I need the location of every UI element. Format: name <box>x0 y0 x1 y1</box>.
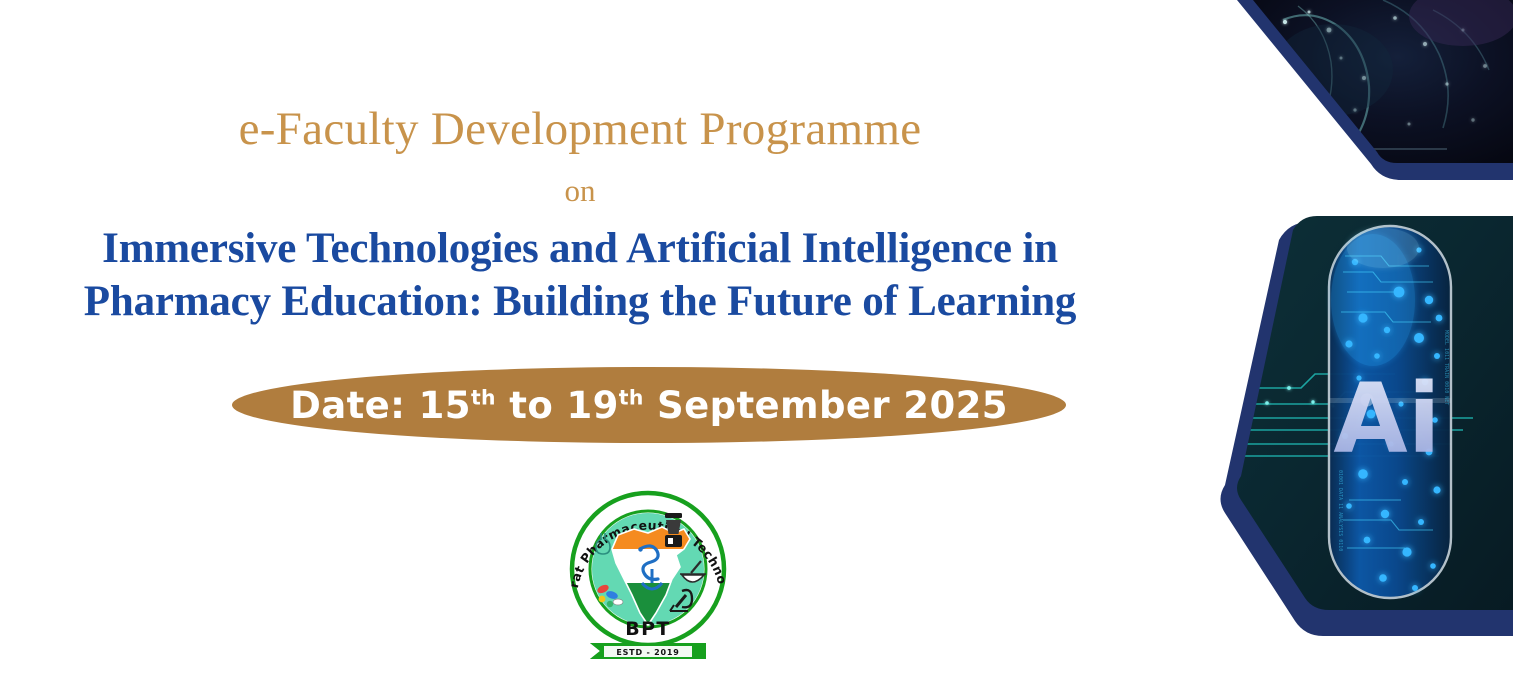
neural-network-image <box>1243 0 1513 174</box>
date-label-prefix: Date: <box>290 384 419 427</box>
event-banner: Ai 01001 DATA 11 ANALYSIS 0110 MODEL 101… <box>0 0 1513 685</box>
capsule-shape: Ai 01001 DATA 11 ANALYSIS 0110 MODEL 101… <box>1329 226 1451 598</box>
date-day-end: 19 <box>566 384 618 427</box>
date-badge: Date: 15th to 19th September 2025 <box>232 367 1066 443</box>
date-month-year: September 2025 <box>644 384 1008 427</box>
date-separator: to <box>496 384 566 427</box>
ai-capsule-label: Ai <box>1333 363 1440 475</box>
date-day-start-suffix: th <box>471 385 496 409</box>
institute-logo: Bharat Pharmaceutical Technology <box>556 483 741 663</box>
institute-logo-svg: Bharat Pharmaceutical Technology <box>556 483 741 663</box>
logo-ribbon-text: ESTD - 2019 <box>616 648 679 657</box>
date-day-end-suffix: th <box>619 385 644 409</box>
right-artwork-svg: Ai 01001 DATA 11 ANALYSIS 0110 MODEL 101… <box>1133 0 1513 650</box>
logo-ribbon: ESTD - 2019 <box>590 643 706 659</box>
logo-acronym: BPT <box>625 618 671 640</box>
date-badge-text: Date: 15th to 19th September 2025 <box>290 384 1008 427</box>
right-artwork-panel: Ai 01001 DATA 11 ANALYSIS 0110 MODEL 101… <box>1133 0 1513 650</box>
programme-on-word: on <box>0 173 1160 209</box>
theme-title-line-2: Pharmacy Education: Building the Future … <box>0 277 1160 326</box>
date-day-start: 15 <box>419 384 471 427</box>
programme-title: e-Faculty Development Programme <box>0 102 1160 156</box>
navy-frame <box>1221 0 1513 636</box>
circuit-traces <box>1225 374 1473 456</box>
theme-title-line-1: Immersive Technologies and Artificial In… <box>0 224 1160 273</box>
svg-text:01001 DATA 11 ANALYSIS 0110: 01001 DATA 11 ANALYSIS 0110 <box>1337 470 1343 551</box>
ai-capsule-image: Ai 01001 DATA 11 ANALYSIS 0110 MODEL 101… <box>1225 210 1513 620</box>
text-column: e-Faculty Development Programme on Immer… <box>0 0 1160 685</box>
svg-text:MODEL 1011 TRAIN 0010 NET: MODEL 1011 TRAIN 0010 NET <box>1443 330 1449 405</box>
